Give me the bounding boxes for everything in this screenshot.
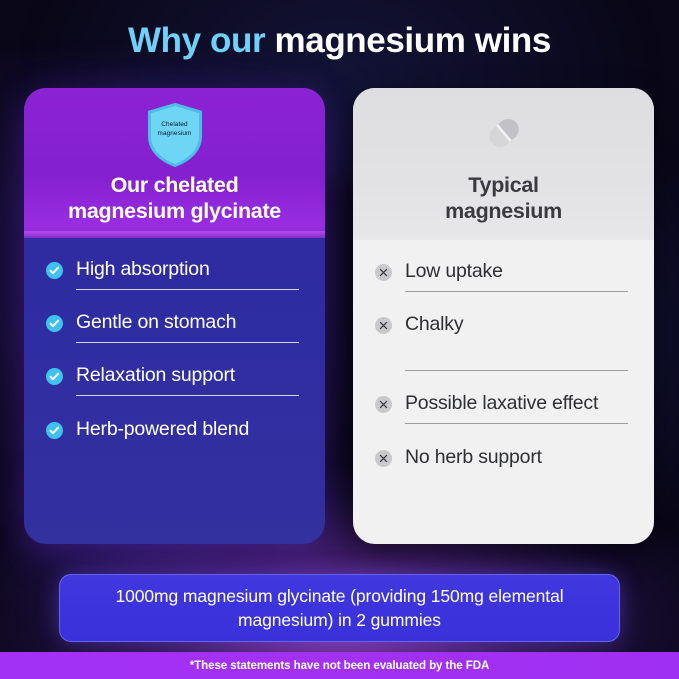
x-circle-icon — [375, 450, 392, 467]
list-divider — [405, 423, 628, 424]
check-circle-icon — [46, 368, 63, 385]
list-divider — [405, 291, 628, 292]
typical-card-title-line2: magnesium — [369, 198, 638, 224]
list-divider — [76, 395, 299, 396]
x-circle-icon — [375, 317, 392, 334]
list-divider — [76, 342, 299, 343]
list-item: No herb support — [375, 431, 632, 470]
shield-icon: Chelated magnesium — [147, 103, 203, 167]
list-item: Gentle on stomach — [46, 297, 303, 350]
dosage-banner-text: 1000mg magnesium glycinate (providing 15… — [84, 584, 595, 632]
list-item-label: Gentle on stomach — [76, 309, 236, 335]
dosage-banner: 1000mg magnesium glycinate (providing 15… — [59, 574, 620, 642]
list-item: Herb-powered blend — [46, 403, 303, 442]
typical-card-header: Typical magnesium — [353, 88, 654, 240]
shield-label-line1: Chelated — [147, 121, 203, 130]
check-circle-icon — [46, 315, 63, 332]
list-item: High absorption — [46, 256, 303, 297]
list-item-label: Herb-powered blend — [76, 416, 249, 442]
check-circle-icon — [46, 422, 63, 439]
typical-card-title: Typical magnesium — [369, 172, 638, 224]
page-title-accent: Why our — [128, 21, 265, 60]
x-circle-icon — [375, 264, 392, 281]
card-typical-magnesium: Typical magnesium Low uptake — [353, 88, 654, 544]
list-item-label: Possible laxative effect — [405, 390, 598, 416]
shield-label: Chelated magnesium — [147, 121, 203, 138]
list-item: Possible laxative effect — [375, 378, 632, 431]
shield-icon-wrap: Chelated magnesium — [40, 102, 309, 168]
our-card-title-line2: magnesium glycinate — [40, 198, 309, 224]
typical-drawbacks-list: Low uptake Chalky — [353, 240, 654, 544]
list-item-label: Low uptake — [405, 258, 503, 284]
page-title: Why our magnesium wins — [0, 18, 679, 64]
page-title-plain: magnesium wins — [275, 21, 551, 60]
infographic-canvas: Why our magnesium wins Chelated magnesiu… — [0, 0, 679, 679]
our-benefits-list: High absorption Gentle on stomach — [24, 238, 325, 544]
capsule-pill-icon — [478, 107, 530, 164]
list-item: Low uptake — [375, 258, 632, 299]
list-item-label: No herb support — [405, 444, 542, 470]
comparison-cards: Chelated magnesium Our chelated magnesiu… — [24, 88, 655, 544]
our-card-title: Our chelated magnesium glycinate — [40, 172, 309, 224]
list-divider — [76, 289, 299, 290]
fda-disclaimer-text: *These statements have not been evaluate… — [190, 659, 490, 672]
x-circle-icon — [375, 396, 392, 413]
check-circle-icon — [46, 262, 63, 279]
fda-disclaimer-bar: *These statements have not been evaluate… — [0, 652, 679, 679]
card-our-chelated-magnesium: Chelated magnesium Our chelated magnesiu… — [24, 88, 325, 544]
our-card-title-line1: Our chelated — [40, 172, 309, 198]
shield-label-line2: magnesium — [147, 130, 203, 139]
list-item-label: Relaxation support — [76, 362, 235, 388]
list-item: Chalky — [375, 299, 632, 378]
our-card-header: Chelated magnesium Our chelated magnesiu… — [24, 88, 325, 238]
list-item-label: High absorption — [76, 256, 210, 282]
typical-card-title-line1: Typical — [369, 172, 638, 198]
capsule-pill-icon-wrap — [369, 102, 638, 168]
list-divider — [405, 370, 628, 371]
list-item: Relaxation support — [46, 350, 303, 403]
list-item-label: Chalky — [405, 311, 463, 337]
